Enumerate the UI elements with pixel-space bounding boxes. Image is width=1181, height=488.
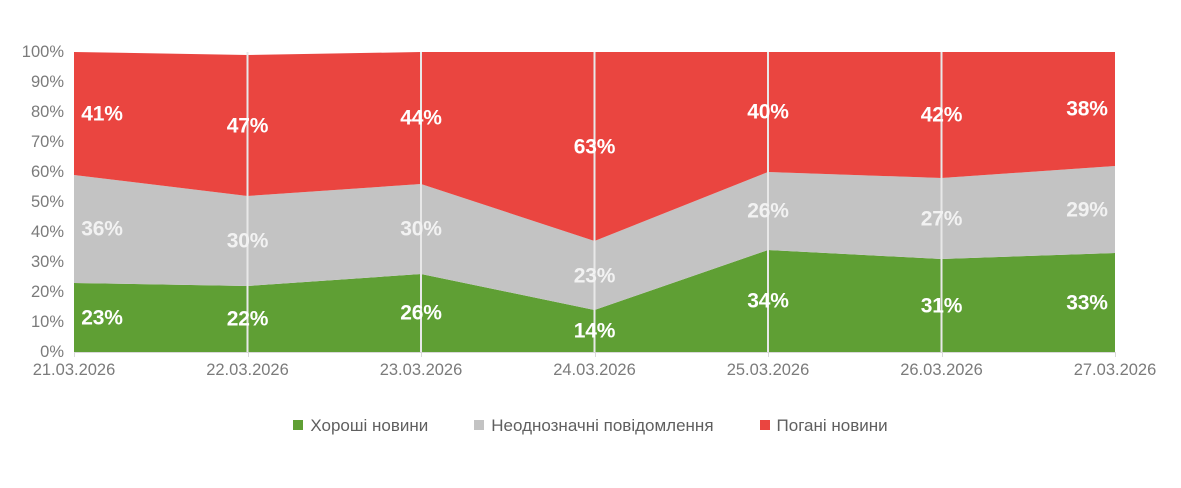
data-label: 22% — [227, 309, 268, 330]
y-axis-tick-label: 40% — [0, 224, 64, 241]
data-label: 44% — [400, 108, 441, 129]
x-axis-tick-mark — [942, 352, 943, 357]
data-label: 36% — [81, 219, 122, 240]
data-label: 23% — [81, 307, 122, 328]
square-marker — [760, 420, 770, 430]
x-axis-tick-label: 24.03.2026 — [553, 360, 636, 381]
data-label: 31% — [921, 295, 962, 316]
data-label: 26% — [400, 303, 441, 324]
data-label: 27% — [921, 208, 962, 229]
x-axis-tick-mark — [74, 352, 75, 357]
data-label: 30% — [227, 231, 268, 252]
data-label: 30% — [400, 219, 441, 240]
data-label: 34% — [747, 291, 788, 312]
data-label: 38% — [1066, 99, 1107, 120]
x-axis-tick-label: 26.03.2026 — [900, 360, 983, 381]
data-label: 33% — [1066, 292, 1107, 313]
legend-item-2[interactable]: Неоднозначні повідомлення — [474, 417, 713, 434]
y-axis: 100%90%80%70%60%50%40%30%20%10%0% — [0, 52, 64, 352]
data-label: 23% — [574, 265, 615, 286]
y-axis-tick-label: 100% — [0, 44, 64, 61]
legend-item-label: Неоднозначні повідомлення — [491, 417, 713, 434]
data-label: 63% — [574, 136, 615, 157]
data-label: 42% — [921, 105, 962, 126]
stacked-area-chart: 100%90%80%70%60%50%40%30%20%10%0% 21.03.… — [0, 0, 1181, 488]
legend-item-label: Хороші новини — [310, 417, 428, 434]
x-axis-tick-mark — [421, 352, 422, 357]
data-label: 47% — [227, 115, 268, 136]
y-axis-tick-label: 80% — [0, 104, 64, 121]
y-axis-tick-label: 30% — [0, 254, 64, 271]
y-axis-tick-label: 70% — [0, 134, 64, 151]
legend-item-label: Погані новини — [777, 417, 888, 434]
x-axis-tick-label: 25.03.2026 — [727, 360, 810, 381]
y-axis-tick-label: 50% — [0, 194, 64, 211]
data-label: 14% — [574, 321, 615, 342]
x-axis-tick-mark — [768, 352, 769, 357]
x-axis-tick-label: 27.03.2026 — [1074, 360, 1157, 381]
y-axis-tick-label: 20% — [0, 284, 64, 301]
plot-wrapper: 100%90%80%70%60%50%40%30%20%10%0% 21.03.… — [0, 0, 1181, 400]
chart-legend: Хороші новиниНеоднозначні повідомленняПо… — [0, 410, 1181, 440]
data-label: 40% — [747, 102, 788, 123]
y-axis-tick-label: 0% — [0, 344, 64, 361]
x-axis-tick-mark — [248, 352, 249, 357]
y-axis-tick-label: 10% — [0, 314, 64, 331]
x-axis-tick-label: 23.03.2026 — [380, 360, 463, 381]
x-axis-tick-mark — [595, 352, 596, 357]
data-label: 29% — [1066, 199, 1107, 220]
y-axis-tick-label: 90% — [0, 74, 64, 91]
data-label: 41% — [81, 103, 122, 124]
x-axis-tick-label: 21.03.2026 — [33, 360, 116, 381]
square-marker — [474, 420, 484, 430]
x-axis: 21.03.202622.03.202623.03.202624.03.2026… — [0, 360, 1181, 390]
legend-item-3[interactable]: Погані новини — [760, 417, 888, 434]
x-axis-tick-label: 22.03.2026 — [206, 360, 289, 381]
data-label: 26% — [747, 201, 788, 222]
x-axis-tick-mark — [1115, 352, 1116, 357]
square-marker — [293, 420, 303, 430]
y-axis-tick-label: 60% — [0, 164, 64, 181]
legend-item-1[interactable]: Хороші новини — [293, 417, 428, 434]
